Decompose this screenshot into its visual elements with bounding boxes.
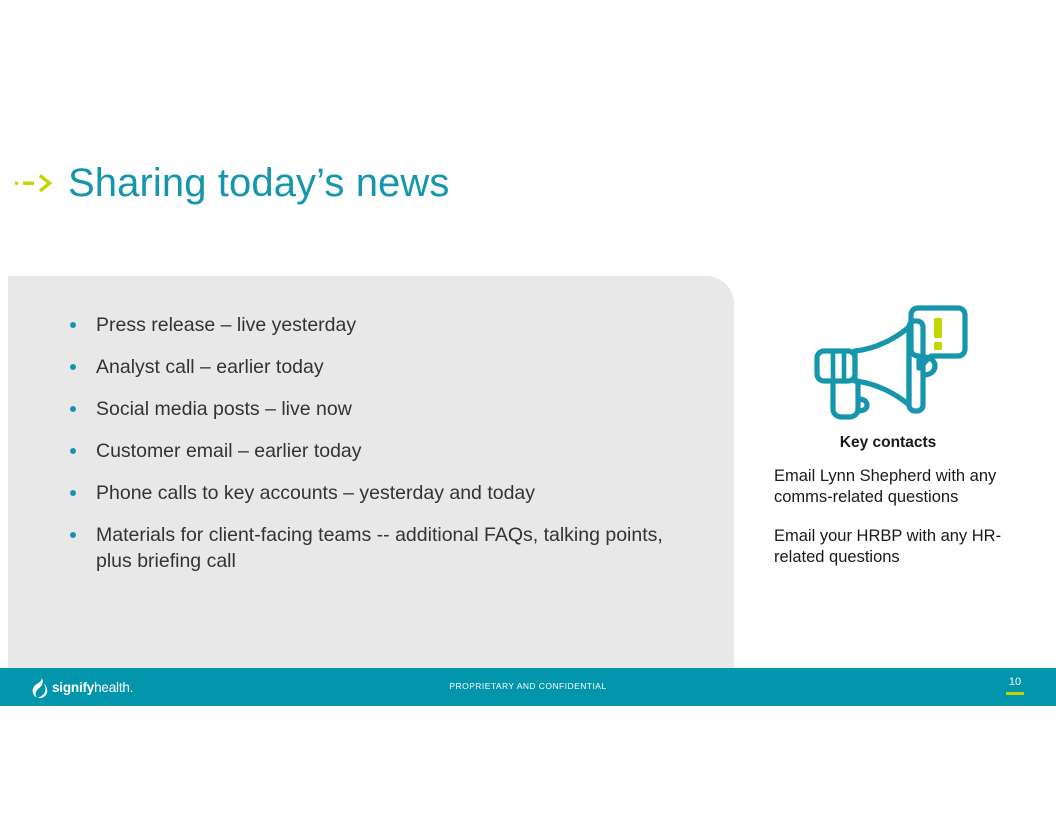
list-item: Phone calls to key accounts – yesterday … bbox=[60, 480, 694, 506]
list-item: Analyst call – earlier today bbox=[60, 354, 694, 380]
key-contact-paragraph: Email Lynn Shepherd with any comms-relat… bbox=[774, 466, 1016, 508]
list-item-text: Materials for client-facing teams -- add… bbox=[96, 524, 663, 572]
page-number: 10 bbox=[1000, 676, 1030, 689]
list-item-text: Phone calls to key accounts – yesterday … bbox=[96, 482, 535, 504]
bullet-dot-icon bbox=[70, 448, 76, 454]
bullet-dot-icon bbox=[70, 364, 76, 370]
bullet-dot-icon bbox=[70, 490, 76, 496]
megaphone-icon-wrap bbox=[760, 300, 1016, 430]
list-item: Press release – live yesterday bbox=[60, 312, 694, 338]
list-item-text: Press release – live yesterday bbox=[96, 314, 356, 336]
list-item-text: Social media posts – live now bbox=[96, 398, 352, 420]
list-item: Social media posts – live now bbox=[60, 396, 694, 422]
exclamation-mark bbox=[934, 318, 942, 350]
key-contact-paragraph: Email your HRBP with any HR-related ques… bbox=[774, 526, 1016, 568]
list-item-text: Customer email – earlier today bbox=[96, 440, 362, 462]
slide-title-row: Sharing today’s news bbox=[0, 152, 450, 214]
page-title: Sharing today’s news bbox=[68, 161, 450, 205]
slide-canvas: Sharing today’s news Press release – liv… bbox=[0, 0, 1056, 816]
key-contacts-heading: Key contacts bbox=[760, 434, 1016, 452]
list-item-text: Analyst call – earlier today bbox=[96, 356, 324, 378]
bullet-dot-icon bbox=[70, 532, 76, 538]
bullet-dot-icon bbox=[70, 322, 76, 328]
megaphone-announcement-icon bbox=[803, 305, 973, 425]
content-panel: Press release – live yesterday Analyst c… bbox=[8, 276, 734, 668]
key-contacts-column: Key contacts Email Lynn Shepherd with an… bbox=[760, 300, 1016, 568]
dashed-arrow-icon bbox=[14, 168, 60, 198]
list-item: Customer email – earlier today bbox=[60, 438, 694, 464]
footer-bar: signifyhealth. PROPRIETARY AND CONFIDENT… bbox=[0, 668, 1056, 706]
bullet-dot-icon bbox=[70, 406, 76, 412]
list-item: Materials for client-facing teams -- add… bbox=[60, 522, 694, 574]
page-number-underline bbox=[1006, 692, 1024, 695]
page-number-group: 10 bbox=[1000, 676, 1030, 695]
bullet-list: Press release – live yesterday Analyst c… bbox=[60, 312, 694, 574]
confidentiality-notice: PROPRIETARY AND CONFIDENTIAL bbox=[0, 681, 1056, 691]
